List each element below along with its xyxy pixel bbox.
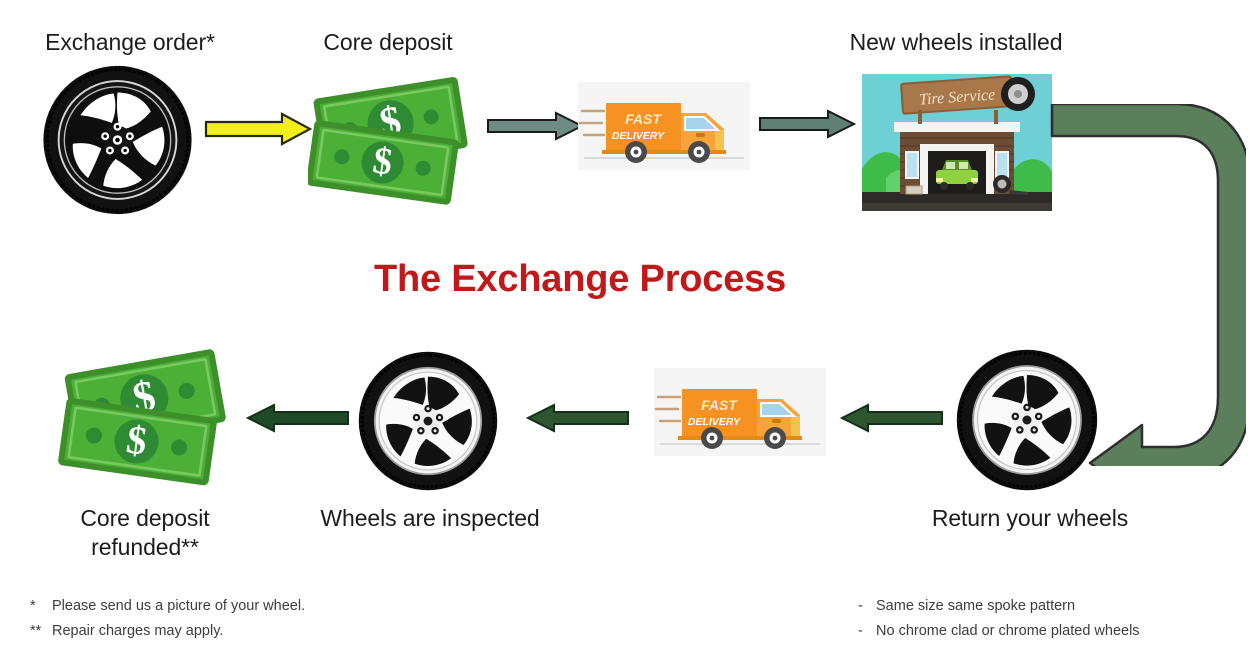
footnote-text: Repair charges may apply. xyxy=(52,623,223,639)
footnotes-left: *Please send us a picture of your wheel.… xyxy=(30,594,550,645)
footnote-marker: - xyxy=(858,619,876,644)
truck-text-delivery: DELIVERY xyxy=(688,416,741,428)
tire-service-shop-icon: Tire Service xyxy=(862,74,1052,211)
footnotes-right: -Same size same spoke pattern -No chrome… xyxy=(858,594,1250,645)
exchange-process-diagram: Exchange order* xyxy=(0,0,1250,666)
footnote-text: No chrome clad or chrome plated wheels xyxy=(876,623,1140,639)
wheel-silver-icon-return xyxy=(952,348,1102,492)
arrow-deposit-to-truck xyxy=(486,110,584,142)
footnote-marker: * xyxy=(30,594,52,619)
label-core-deposit-refunded: Core deposit refunded** xyxy=(35,504,255,563)
footnote-text: Please send us a picture of your wheel. xyxy=(52,598,305,614)
arrow-truck-to-shop xyxy=(758,108,856,140)
wheel-black-icon xyxy=(40,64,195,216)
arrow-return-to-truck xyxy=(838,402,944,434)
arrow-order-to-deposit xyxy=(204,112,312,146)
truck-text-fast: FAST xyxy=(701,397,738,413)
footnote-text: Same size same spoke pattern xyxy=(876,598,1075,614)
cash-icon: $ $ xyxy=(308,72,478,207)
label-wheels-inspected: Wheels are inspected xyxy=(290,504,570,533)
label-new-wheels-installed: New wheels installed xyxy=(806,28,1106,57)
delivery-truck-icon-outbound: FAST DELIVERY xyxy=(578,82,750,170)
footnote-left-1: *Please send us a picture of your wheel. xyxy=(30,594,550,619)
footnote-marker: ** xyxy=(30,619,52,644)
label-core-deposit: Core deposit xyxy=(288,28,488,57)
page-title: The Exchange Process xyxy=(0,258,1160,301)
truck-text-delivery: DELIVERY xyxy=(612,130,665,142)
arrow-truck-to-inspection xyxy=(524,402,630,434)
delivery-truck-icon-inbound: FAST DELIVERY xyxy=(654,368,826,456)
wheel-silver-icon-inspected xyxy=(354,350,502,492)
arrow-inspection-to-refund xyxy=(244,402,350,434)
footnote-left-2: **Repair charges may apply. xyxy=(30,619,550,644)
footnote-marker: - xyxy=(858,594,876,619)
truck-text-fast: FAST xyxy=(625,111,662,127)
label-exchange-order: Exchange order* xyxy=(10,28,250,57)
label-return-your-wheels: Return your wheels xyxy=(890,504,1170,533)
footnote-right-1: -Same size same spoke pattern xyxy=(858,594,1250,619)
cash-icon-refund: $ $ xyxy=(58,348,236,486)
footnote-right-2: -No chrome clad or chrome plated wheels xyxy=(858,619,1250,644)
